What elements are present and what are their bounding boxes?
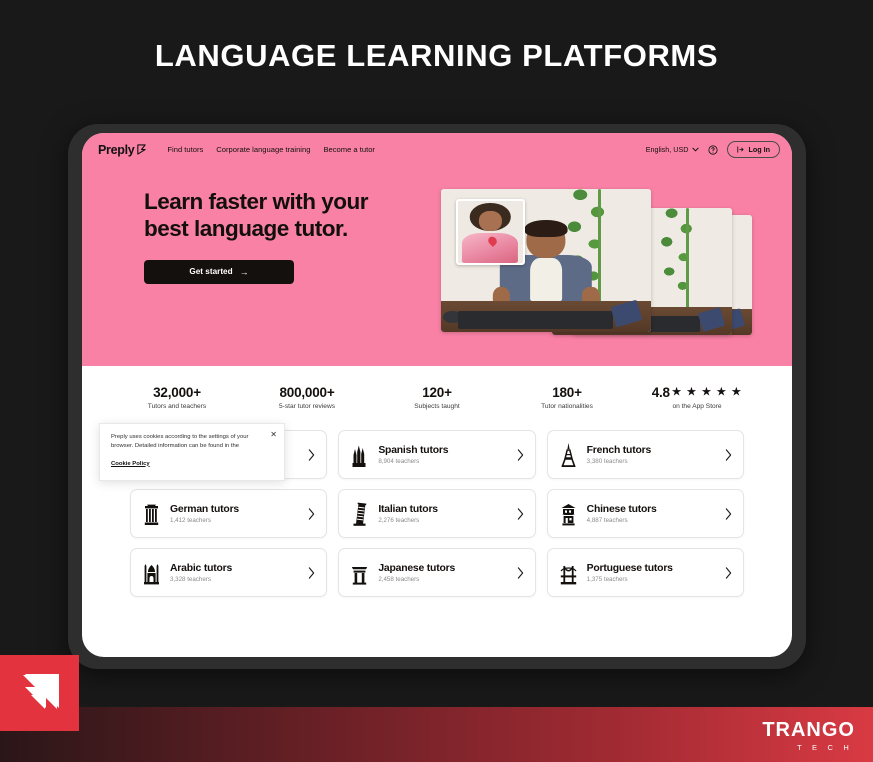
chevron-right-icon[interactable] — [725, 567, 732, 579]
navbar: Preply Find tutors Corporate language tr… — [82, 133, 792, 166]
chevron-right-icon[interactable] — [725, 508, 732, 520]
card-teacher-count: 1,375 teachers — [587, 576, 715, 583]
student-pip-figure — [456, 199, 525, 265]
language-currency-select[interactable]: English, USD — [646, 145, 700, 154]
cookie-policy-link[interactable]: Cookie Policy — [111, 461, 150, 467]
navbar-right: English, USD — [646, 141, 780, 158]
preply-play-mark-icon — [136, 144, 147, 155]
video-card-front — [441, 189, 651, 332]
question-circle-icon[interactable] — [708, 145, 718, 155]
card-teacher-count: 8,904 teachers — [378, 458, 506, 465]
trango-badge — [0, 655, 79, 731]
device-frame: Preply Find tutors Corporate language tr… — [68, 124, 806, 669]
card-teacher-count: 4,887 teachers — [587, 517, 715, 524]
mosque-icon — [143, 561, 160, 585]
trango-tech-logo: TRANGO T E C H — [762, 720, 855, 752]
page-title: LANGUAGE LEARNING PLATFORMS — [0, 38, 873, 74]
hero-heading: Learn faster with your best language tut… — [144, 188, 374, 243]
nav-link-find-tutors[interactable]: Find tutors — [167, 145, 203, 154]
login-button[interactable]: Log In — [727, 141, 780, 158]
card-teacher-count: 2,458 teachers — [378, 576, 506, 583]
footer-bar: TRANGO T E C H — [0, 707, 873, 762]
nav-link-become-a-tutor[interactable]: Become a tutor — [323, 145, 375, 154]
stat-value: 4.8 — [652, 385, 670, 400]
chevron-down-icon — [692, 147, 699, 152]
stat-value: 800,000+ — [279, 385, 334, 400]
card-german-tutors[interactable]: German tutors 1,412 teachers — [130, 489, 327, 538]
card-title: Portuguese tutors — [587, 563, 715, 574]
chevron-right-icon[interactable] — [308, 508, 315, 520]
chevron-right-icon[interactable] — [517, 567, 524, 579]
card-title: Japanese tutors — [378, 563, 506, 574]
card-title: Italian tutors — [378, 504, 506, 515]
stat-label: Tutors and teachers — [112, 403, 242, 410]
brand-logo[interactable]: Preply — [98, 143, 147, 157]
card-french-tutors[interactable]: French tutors 3,380 teachers — [547, 430, 744, 479]
torii-gate-icon — [351, 561, 368, 585]
card-portuguese-tutors[interactable]: Portuguese tutors 1,375 teachers — [547, 548, 744, 597]
card-chinese-tutors[interactable]: Chinese tutors 4,887 teachers — [547, 489, 744, 538]
chevron-right-icon[interactable] — [517, 449, 524, 461]
chevron-right-icon[interactable] — [308, 567, 315, 579]
card-title: Chinese tutors — [587, 504, 715, 515]
nav-links: Find tutors Corporate language training … — [167, 145, 375, 154]
stat-label: 5-star tutor reviews — [242, 403, 372, 410]
card-title: Arabic tutors — [170, 563, 298, 574]
stat-item: 120+ Subjects taught — [372, 385, 502, 410]
stat-value: 32,000+ — [153, 385, 201, 400]
hero-video-call-image — [441, 189, 716, 361]
card-title: German tutors — [170, 504, 298, 515]
sagrada-familia-icon — [351, 443, 368, 467]
card-teacher-count: 1,412 teachers — [170, 517, 298, 524]
trango-arrow-mark-icon — [15, 668, 65, 718]
login-button-label: Log In — [748, 145, 770, 154]
arrow-right-icon: → — [240, 267, 249, 277]
eiffel-tower-icon — [560, 443, 577, 467]
leaning-tower-icon — [351, 502, 368, 526]
chevron-right-icon[interactable] — [308, 449, 315, 461]
stat-item: 180+ Tutor nationalities — [502, 385, 632, 410]
stat-value: 120+ — [422, 385, 452, 400]
stat-item: 800,000+ 5-star tutor reviews — [242, 385, 372, 410]
bridge-icon — [560, 561, 577, 585]
brandenburg-gate-icon — [143, 502, 160, 526]
browser-screen: Preply Find tutors Corporate language tr… — [82, 133, 792, 657]
card-japanese-tutors[interactable]: Japanese tutors 2,458 teachers — [338, 548, 535, 597]
close-x-icon[interactable]: ✕ — [270, 431, 277, 439]
stat-label: Tutor nationalities — [502, 403, 632, 410]
language-currency-value: English, USD — [646, 145, 689, 154]
stat-item: 32,000+ Tutors and teachers — [112, 385, 242, 410]
login-arrow-icon — [737, 146, 744, 153]
stat-label: Subjects taught — [372, 403, 502, 410]
card-spanish-tutors[interactable]: Spanish tutors 8,904 teachers — [338, 430, 535, 479]
card-title: French tutors — [587, 445, 715, 456]
card-title: Spanish tutors — [378, 445, 506, 456]
get-started-label: Get started — [189, 267, 232, 276]
poster-canvas: LANGUAGE LEARNING PLATFORMS Preply Find … — [0, 0, 873, 762]
chevron-right-icon[interactable] — [725, 449, 732, 461]
card-italian-tutors[interactable]: Italian tutors 2,276 teachers — [338, 489, 535, 538]
card-teacher-count: 2,276 teachers — [378, 517, 506, 524]
trango-wordmark: TRANGO — [762, 720, 855, 740]
stats-row: 32,000+ Tutors and teachers 800,000+ 5-s… — [82, 366, 792, 428]
stat-label: on the App Store — [632, 403, 762, 410]
card-arabic-tutors[interactable]: Arabic tutors 3,328 teachers — [130, 548, 327, 597]
get-started-button[interactable]: Get started → — [144, 260, 294, 284]
chevron-right-icon[interactable] — [517, 508, 524, 520]
hero-section: Learn faster with your best language tut… — [82, 166, 792, 366]
stat-item-rating: 4.8 ★ ★ ★ ★ ★ on the App Store — [632, 385, 762, 410]
stat-value: 180+ — [552, 385, 582, 400]
cookie-banner: Preply uses cookies according to the set… — [99, 423, 285, 481]
cookie-banner-text: Preply uses cookies according to the set… — [111, 433, 264, 452]
rating-stars: ★ ★ ★ ★ ★ — [672, 386, 742, 398]
pagoda-icon — [560, 502, 577, 526]
brand-label: Preply — [98, 143, 134, 157]
tech-wordmark: T E C H — [762, 743, 853, 752]
card-teacher-count: 3,380 teachers — [587, 458, 715, 465]
nav-link-corporate-training[interactable]: Corporate language training — [216, 145, 310, 154]
card-teacher-count: 3,328 teachers — [170, 576, 298, 583]
